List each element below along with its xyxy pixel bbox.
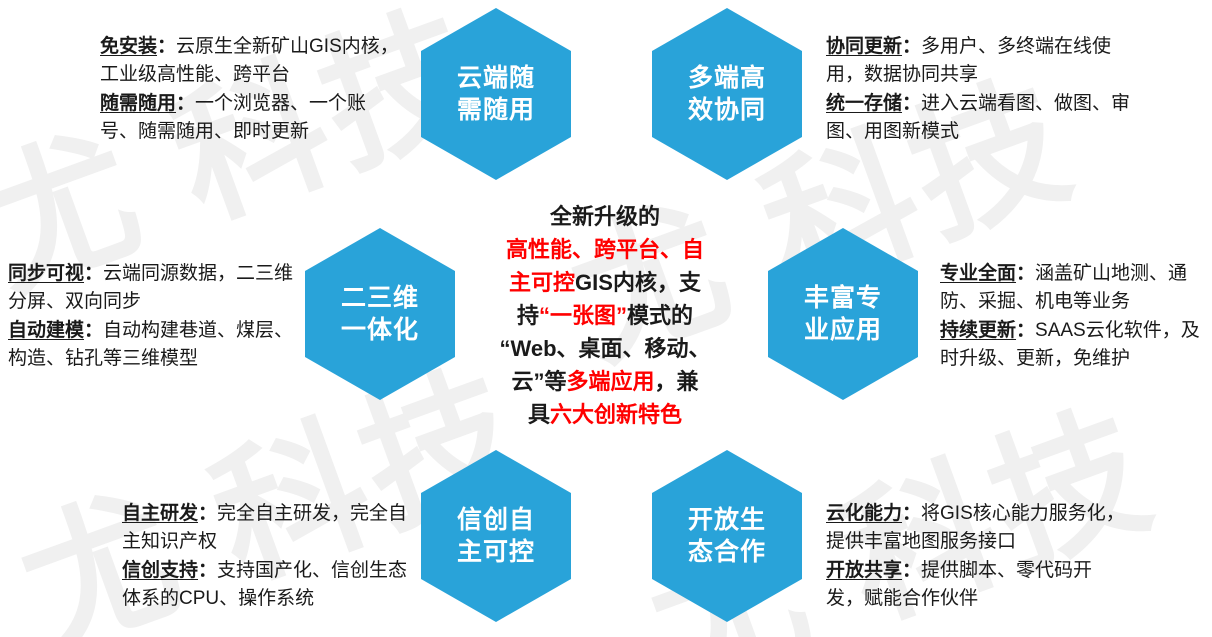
center-line-7-black: 具 (528, 402, 550, 427)
feature-item: 自主研发：完全自主研发，完全自主知识产权 (122, 500, 412, 555)
feature-key: 免安装 (100, 36, 157, 57)
text-block-mid-right: 专业全面：涵盖矿山地测、通防、采掘、机电等业务 持续更新：SAAS云化软件，及时… (940, 260, 1205, 374)
text-block-bottom-left: 自主研发：完全自主研发，完全自主知识产权 信创支持：支持国产化、信创生态体系的C… (122, 500, 412, 614)
feature-item: 开放共享：提供脚本、零代码开发，赋能合作伙伴 (826, 557, 1126, 612)
text-block-top-left: 免安装：云原生全新矿山GIS内核，工业级高性能、跨平台 随需随用：一个浏览器、一… (100, 33, 400, 147)
center-line-2: 高性能、跨平台、自 (506, 237, 704, 262)
center-line-6-black: 云”等 (511, 369, 566, 394)
feature-item: 自动建模：自动构建巷道、煤层、构造、钻孔等三维模型 (8, 317, 298, 372)
hexagon-label: 二三维 一体化 (341, 282, 419, 346)
feature-separator: ： (84, 263, 103, 284)
center-line-6-red: 多端应用 (566, 369, 654, 394)
feature-key: 开放共享 (826, 560, 902, 581)
feature-separator: ： (902, 503, 921, 524)
feature-item: 协同更新：多用户、多终端在线使用，数据协同共享 (826, 33, 1136, 88)
feature-key: 专业全面 (940, 263, 1016, 284)
feature-key: 自主研发 (122, 503, 198, 524)
feature-key: 随需随用 (100, 93, 176, 114)
text-block-top-right: 协同更新：多用户、多终端在线使用，数据协同共享 统一存储：进入云端看图、做图、审… (826, 33, 1136, 147)
feature-item: 云化能力：将GIS核心能力服务化，提供丰富地图服务接口 (826, 500, 1126, 555)
feature-separator: ： (902, 560, 921, 581)
hexagon-label: 信创自 主可控 (457, 504, 535, 568)
feature-separator: ： (198, 560, 217, 581)
feature-key: 协同更新 (826, 36, 902, 57)
center-line-4-red: “一张图” (539, 303, 627, 328)
text-block-bottom-right: 云化能力：将GIS核心能力服务化，提供丰富地图服务接口 开放共享：提供脚本、零代… (826, 500, 1126, 614)
feature-separator: ： (157, 36, 176, 57)
center-line-7-red: 六大创新特色 (550, 402, 682, 427)
center-line-1: 全新升级的 (550, 204, 660, 229)
feature-separator: ： (1016, 263, 1035, 284)
text-block-mid-left: 同步可视：云端同源数据，二三维分屏、双向同步 自动建模：自动构建巷道、煤层、构造… (8, 260, 298, 374)
feature-item: 信创支持：支持国产化、信创生态体系的CPU、操作系统 (122, 557, 412, 612)
center-line-5: “Web、桌面、移动、 (499, 336, 710, 361)
feature-separator: ： (902, 93, 921, 114)
center-line-3-black: GIS内核，支 (575, 270, 701, 295)
center-description: 全新升级的 高性能、跨平台、自 主可控GIS内核，支 持“一张图”模式的 “We… (455, 200, 755, 431)
feature-key: 持续更新 (940, 320, 1016, 341)
hexagon-label: 多端高 效协同 (688, 62, 766, 126)
feature-separator: ： (1016, 320, 1035, 341)
hexagon-label: 丰富专 业应用 (804, 282, 882, 346)
feature-item: 免安装：云原生全新矿山GIS内核，工业级高性能、跨平台 (100, 33, 400, 88)
feature-item: 持续更新：SAAS云化软件，及时升级、更新，免维护 (940, 317, 1205, 372)
feature-separator: ： (84, 320, 103, 341)
center-line-4-black: 持 (517, 303, 539, 328)
feature-item: 随需随用：一个浏览器、一个账号、随需随用、即时更新 (100, 90, 400, 145)
feature-key: 云化能力 (826, 503, 902, 524)
feature-item: 统一存储：进入云端看图、做图、审图、用图新模式 (826, 90, 1136, 145)
center-line-3-red: 主可控 (509, 270, 575, 295)
feature-separator: ： (176, 93, 195, 114)
hexagon-label: 云端随 需随用 (457, 62, 535, 126)
feature-item: 专业全面：涵盖矿山地测、通防、采掘、机电等业务 (940, 260, 1205, 315)
feature-item: 同步可视：云端同源数据，二三维分屏、双向同步 (8, 260, 298, 315)
hexagon-label: 开放生 态合作 (688, 504, 766, 568)
feature-key: 自动建模 (8, 320, 84, 341)
infographic-canvas: 尤 科技 尤 科技 尤 科技 尤 科技 云端随 需随用 多端高 效协同 二三维 … (0, 0, 1212, 637)
center-line-6-black2: ，兼 (655, 369, 699, 394)
feature-separator: ： (902, 36, 921, 57)
feature-key: 同步可视 (8, 263, 84, 284)
feature-key: 统一存储 (826, 93, 902, 114)
center-line-4-black2: 模式的 (627, 303, 693, 328)
feature-key: 信创支持 (122, 560, 198, 581)
feature-separator: ： (198, 503, 217, 524)
